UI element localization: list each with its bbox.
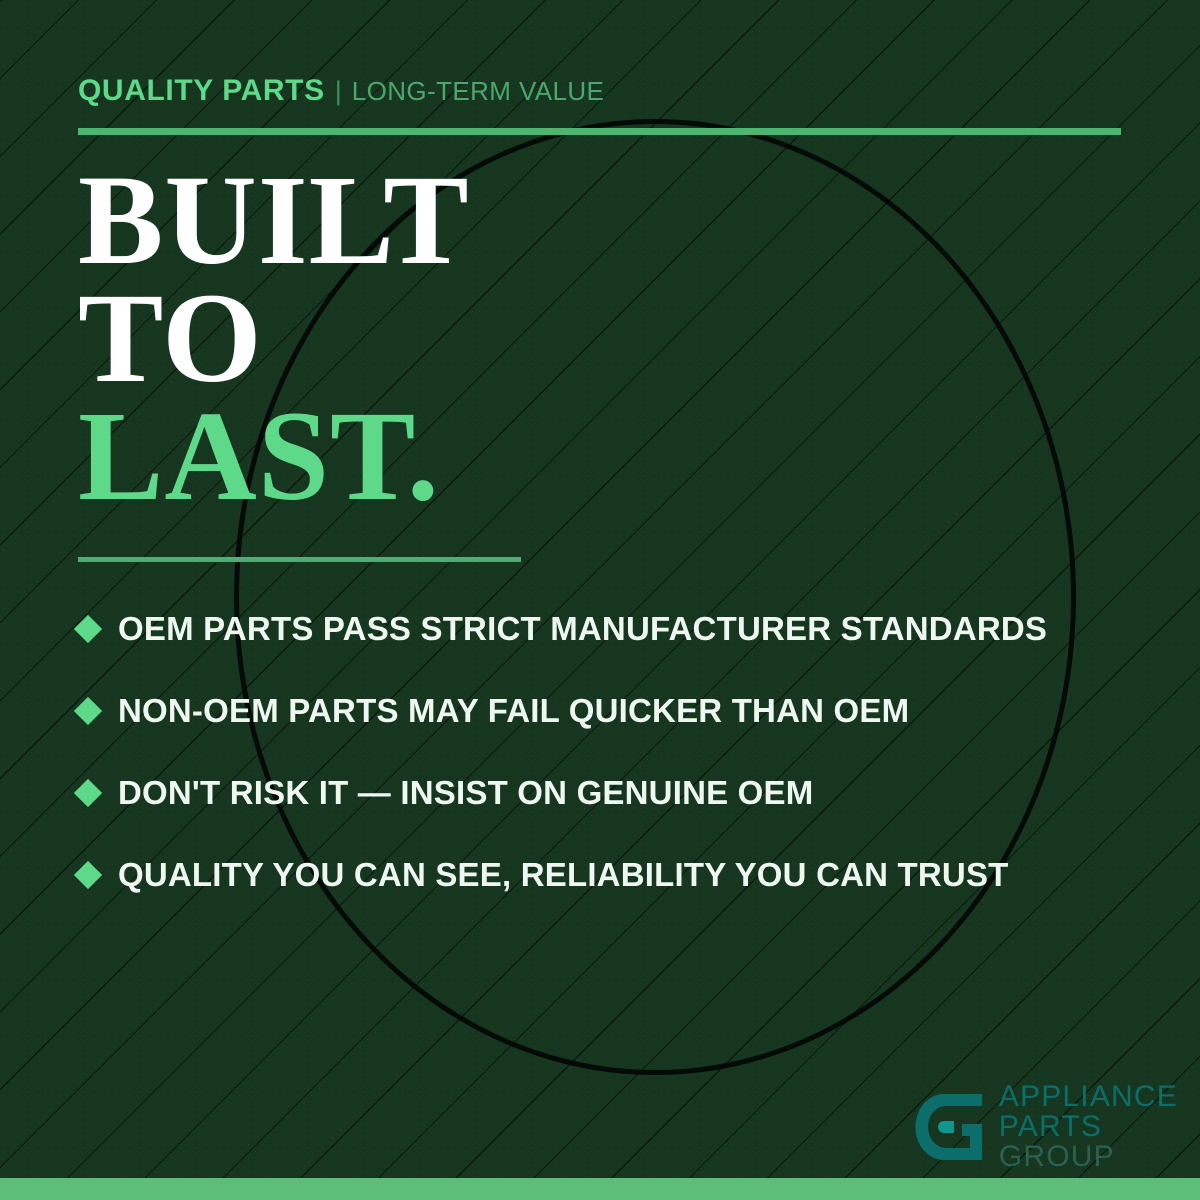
headline-line-1: BUILT <box>78 162 470 280</box>
list-item: QUALITY YOU CAN SEE, RELIABILITY YOU CAN… <box>78 834 1148 916</box>
header-divider-rule <box>78 128 1121 135</box>
appliance-parts-group-g-icon <box>914 1088 986 1166</box>
logo-word-1: APPLIANCE <box>999 1082 1178 1112</box>
eyebrow-subtitle: LONG-TERM VALUE <box>352 76 605 107</box>
list-item-label: NON-OEM PARTS MAY FAIL QUICKER THAN OEM <box>118 692 909 730</box>
diamond-bullet-icon <box>74 615 102 643</box>
poster-content: QUALITY PARTS | LONG-TERM VALUE BUILT TO… <box>0 0 1200 1200</box>
list-item: OEM PARTS PASS STRICT MANUFACTURER STAND… <box>78 588 1148 670</box>
eyebrow-title: QUALITY PARTS <box>78 74 325 108</box>
list-item: DON'T RISK IT — INSIST ON GENUINE OEM <box>78 752 1148 834</box>
diamond-bullet-icon <box>74 779 102 807</box>
bottom-accent-bar <box>0 1178 1200 1200</box>
list-item-label: DON'T RISK IT — INSIST ON GENUINE OEM <box>118 774 813 812</box>
brand-logo-wordmark: APPLIANCE PARTS GROUP <box>999 1082 1178 1172</box>
eyebrow-header: QUALITY PARTS | LONG-TERM VALUE <box>78 74 604 108</box>
diamond-bullet-icon <box>74 861 102 889</box>
brand-logo: APPLIANCE PARTS GROUP <box>914 1082 1178 1172</box>
headline-line-2: TO <box>78 280 470 398</box>
list-item-label: QUALITY YOU CAN SEE, RELIABILITY YOU CAN… <box>118 856 1009 894</box>
page-title: BUILT TO LAST. <box>78 162 470 515</box>
benefits-list: OEM PARTS PASS STRICT MANUFACTURER STAND… <box>78 588 1148 916</box>
eyebrow-separator: | <box>335 76 342 107</box>
list-item: NON-OEM PARTS MAY FAIL QUICKER THAN OEM <box>78 670 1148 752</box>
logo-word-3: GROUP <box>999 1142 1178 1172</box>
list-item-label: OEM PARTS PASS STRICT MANUFACTURER STAND… <box>118 610 1047 648</box>
headline-line-3: LAST. <box>78 398 470 516</box>
headline-divider-rule <box>78 557 521 562</box>
poster-canvas: QUALITY PARTS | LONG-TERM VALUE BUILT TO… <box>0 0 1200 1200</box>
diamond-bullet-icon <box>74 697 102 725</box>
logo-word-2: PARTS <box>999 1112 1178 1142</box>
